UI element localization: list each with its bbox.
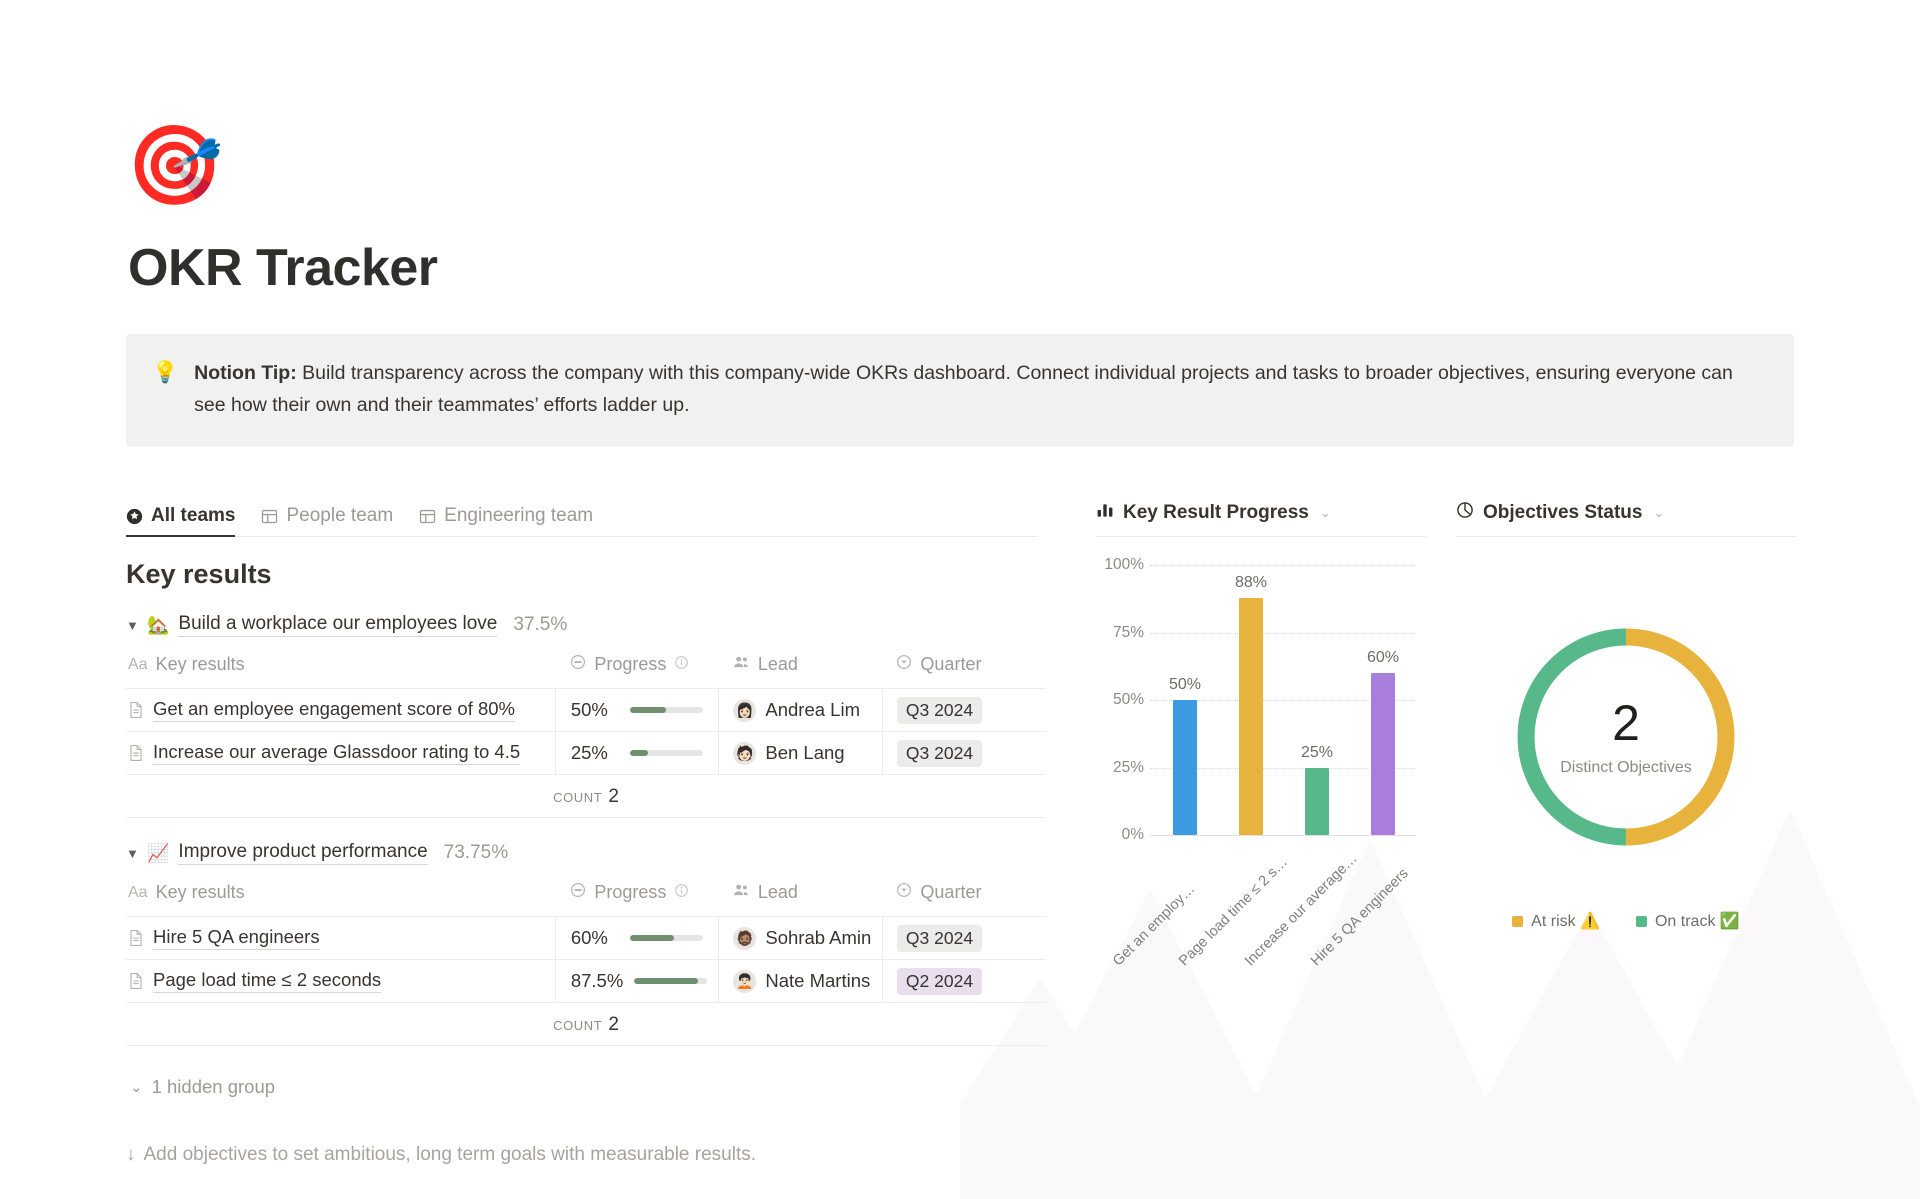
avatar: 🧑🏻 xyxy=(733,742,756,765)
quarter-tag: Q3 2024 xyxy=(897,697,982,724)
chart-header[interactable]: Key Result Progress ⌄ xyxy=(1096,499,1426,537)
text-type-icon: Aa xyxy=(128,656,148,674)
callout-text: Notion Tip: Build transparency across th… xyxy=(194,358,1766,421)
people-icon xyxy=(733,654,750,675)
lead-name: Ben Lang xyxy=(765,742,844,764)
group-count[interactable]: COUNT2 xyxy=(126,1003,1046,1046)
bar-slot[interactable]: 50% xyxy=(1152,565,1218,835)
info-icon[interactable] xyxy=(674,654,689,675)
column-label: Key results xyxy=(156,654,245,675)
count-label: COUNT xyxy=(553,1018,602,1033)
tab-engineering-team[interactable]: Engineering team xyxy=(419,505,593,536)
key-results-column: All teams People team Engineering team xyxy=(126,499,1046,1098)
info-icon[interactable] xyxy=(674,882,689,903)
tab-label: All teams xyxy=(151,505,235,527)
footer-hint: ↓ Add objectives to set ambitious, long … xyxy=(126,1144,1794,1166)
column-header-name[interactable]: AaKey results xyxy=(126,654,555,689)
donut-center: 2 Distinct Objectives xyxy=(1511,622,1741,852)
cell-quarter[interactable]: Q3 2024 xyxy=(882,689,1046,732)
cell-progress[interactable]: 60% xyxy=(555,917,719,960)
objective-group: ▼ 🏡 Build a workplace our employees love… xyxy=(126,612,1046,818)
house-emoji-icon: 🏡 xyxy=(147,615,169,636)
cell-name[interactable]: Page load time ≤ 2 seconds xyxy=(126,960,555,1003)
donut-label: Distinct Objectives xyxy=(1560,759,1692,777)
donut-chart: 2 Distinct Objectives xyxy=(1456,587,1796,887)
row-title[interactable]: Increase our average Glassdoor rating to… xyxy=(153,741,520,765)
avatar: 👩🏻 xyxy=(733,699,756,722)
notion-tip-callout: 💡 Notion Tip: Build transparency across … xyxy=(126,334,1794,447)
chevron-down-icon[interactable]: ⌄ xyxy=(1320,505,1331,521)
bar[interactable] xyxy=(1305,768,1329,836)
donut-legend: At risk ⚠️ On track ✅ xyxy=(1456,911,1796,931)
page-icon xyxy=(128,972,144,990)
progress-bar xyxy=(630,707,703,713)
legend-label: At risk ⚠️ xyxy=(1531,911,1600,931)
callout-body: Build transparency across the company wi… xyxy=(194,362,1733,416)
table-header-row: AaKey results Progress xyxy=(126,882,1046,917)
table-icon xyxy=(261,508,278,525)
quarter-tag: Q2 2024 xyxy=(897,968,982,995)
target-emoji-icon: 🎯 xyxy=(126,126,216,216)
bar-slot[interactable]: 25% xyxy=(1284,565,1350,835)
cell-progress[interactable]: 50% xyxy=(555,689,719,732)
chart-header[interactable]: Objectives Status ⌄ xyxy=(1456,499,1796,537)
lightbulb-icon: 💡 xyxy=(152,358,178,421)
bar-value-label: 60% xyxy=(1367,649,1399,667)
bar-value-label: 50% xyxy=(1169,676,1201,694)
tab-people-team[interactable]: People team xyxy=(261,505,393,536)
chevron-down-icon[interactable]: ⌄ xyxy=(1653,505,1664,521)
column-label: Quarter xyxy=(920,654,981,675)
legend-item-at-risk[interactable]: At risk ⚠️ xyxy=(1512,911,1600,931)
y-tick-label: 0% xyxy=(1096,826,1144,844)
key-result-progress-chart-block: Key Result Progress ⌄ 100% 75% 50% 25% 0… xyxy=(1096,499,1426,1098)
page-icon xyxy=(128,701,144,719)
column-header-quarter[interactable]: Quarter xyxy=(882,654,1046,689)
y-tick-label: 50% xyxy=(1096,691,1144,709)
tab-label: Engineering team xyxy=(444,505,593,527)
row-title[interactable]: Get an employee engagement score of 80% xyxy=(153,698,515,722)
bar-slot[interactable]: 88% xyxy=(1218,565,1284,835)
progress-value: 87.5% xyxy=(571,970,623,992)
chevron-down-icon[interactable]: ▼ xyxy=(126,618,138,633)
y-tick-label: 75% xyxy=(1096,624,1144,642)
column-header-progress[interactable]: Progress xyxy=(555,654,719,689)
cell-lead[interactable]: 👩🏻 Andrea Lim xyxy=(719,689,883,732)
group-percent: 37.5% xyxy=(513,614,567,636)
main-area: All teams People team Engineering team xyxy=(0,499,1920,1098)
bar-slot[interactable]: 60% xyxy=(1350,565,1416,835)
arrow-down-icon: ↓ xyxy=(126,1144,136,1166)
column-label: Lead xyxy=(758,882,798,903)
pie-chart-icon xyxy=(1456,501,1474,525)
target-icon xyxy=(126,508,143,525)
column-header-lead[interactable]: Lead xyxy=(719,654,883,689)
select-icon xyxy=(896,882,912,903)
table-row[interactable]: Increase our average Glassdoor rating to… xyxy=(126,732,1046,775)
lead-name: Andrea Lim xyxy=(765,699,860,721)
key-results-table: AaKey results Progress xyxy=(126,882,1046,1046)
chart-title: Objectives Status xyxy=(1483,502,1642,524)
select-icon xyxy=(896,654,912,675)
column-label: Quarter xyxy=(920,882,981,903)
people-icon xyxy=(733,882,750,903)
quarter-tag: Q3 2024 xyxy=(897,740,982,767)
column-label: Key results xyxy=(156,882,245,903)
progress-value: 50% xyxy=(571,699,619,721)
bar-chart: 100% 75% 50% 25% 0% 50% xyxy=(1096,565,1416,875)
column-label: Lead xyxy=(758,654,798,675)
table-row[interactable]: Page load time ≤ 2 seconds 87.5% xyxy=(126,960,1046,1003)
tab-label: People team xyxy=(286,505,393,527)
count-value: 2 xyxy=(608,1014,619,1035)
cell-progress[interactable]: 87.5% xyxy=(555,960,719,1003)
cell-quarter[interactable]: Q3 2024 xyxy=(882,732,1046,775)
donut-number: 2 xyxy=(1612,698,1640,748)
group-count[interactable]: COUNT2 xyxy=(126,775,1046,818)
group-count-row: COUNT2 xyxy=(126,775,1046,818)
bar-value-label: 88% xyxy=(1235,574,1267,592)
donut-rings: 2 Distinct Objectives xyxy=(1511,622,1741,852)
column-label: Progress xyxy=(594,654,666,675)
bar[interactable] xyxy=(1239,598,1263,836)
chart-increasing-emoji-icon: 📈 xyxy=(147,843,169,864)
bar[interactable] xyxy=(1371,673,1395,835)
page-title: OKR Tracker xyxy=(128,238,1920,298)
legend-swatch xyxy=(1636,916,1647,927)
cell-lead[interactable]: 🧑🏻 Ben Lang xyxy=(719,732,883,775)
page-icon xyxy=(128,744,144,762)
group-name[interactable]: Improve product performance xyxy=(178,841,427,865)
page-header: 🎯 OKR Tracker xyxy=(0,0,1920,298)
column-label: Progress xyxy=(594,882,666,903)
group-name[interactable]: Build a workplace our employees love xyxy=(178,613,497,637)
count-value: 2 xyxy=(608,786,619,807)
table-row[interactable]: Hire 5 QA engineers 60% xyxy=(126,917,1046,960)
callout-label: Notion Tip: xyxy=(194,362,297,384)
key-results-table: AaKey results Progress xyxy=(126,654,1046,818)
legend-label: On track ✅ xyxy=(1655,911,1740,931)
y-tick-label: 25% xyxy=(1096,759,1144,777)
chevron-down-icon[interactable]: ▼ xyxy=(126,846,138,861)
progress-value: 25% xyxy=(571,742,619,764)
column-header-progress[interactable]: Progress xyxy=(555,882,719,917)
cell-name[interactable]: Increase our average Glassdoor rating to… xyxy=(126,732,555,775)
column-header-quarter[interactable]: Quarter xyxy=(882,882,1046,917)
progress-bar xyxy=(630,935,703,941)
table-header-row: AaKey results Progress xyxy=(126,654,1046,689)
x-axis-labels: Get an employ… Page load time ≤ 2 s… Inc… xyxy=(1152,877,1416,977)
legend-item-on-track[interactable]: On track ✅ xyxy=(1636,911,1740,931)
progress-icon xyxy=(570,882,586,903)
team-tabs: All teams People team Engineering team xyxy=(126,499,1038,537)
progress-value: 60% xyxy=(571,927,619,949)
bar[interactable] xyxy=(1173,700,1197,835)
chevron-down-icon: ⌄ xyxy=(130,1078,143,1096)
avatar: 🧑🏻‍🦱 xyxy=(733,970,756,993)
lead-name: Sohrab Amin xyxy=(765,927,871,949)
lead-name: Nate Martins xyxy=(765,970,870,992)
progress-bar xyxy=(630,750,703,756)
quarter-tag: Q3 2024 xyxy=(897,925,982,952)
legend-swatch xyxy=(1512,916,1523,927)
progress-bar xyxy=(634,978,707,984)
row-title[interactable]: Hire 5 QA engineers xyxy=(153,926,320,950)
bar-value-label: 25% xyxy=(1301,744,1333,762)
cell-quarter[interactable]: Q2 2024 xyxy=(882,960,1046,1003)
progress-icon xyxy=(570,654,586,675)
cell-name[interactable]: Get an employee engagement score of 80% xyxy=(126,689,555,732)
bar-chart-icon xyxy=(1096,501,1114,525)
x-tick: Hire 5 QA engineers xyxy=(1350,877,1416,977)
group-count-row: COUNT2 xyxy=(126,1003,1046,1046)
count-label: COUNT xyxy=(553,790,602,805)
y-tick-label: 100% xyxy=(1096,556,1144,574)
hidden-group-label: 1 hidden group xyxy=(152,1076,275,1098)
table-row[interactable]: Get an employee engagement score of 80% … xyxy=(126,689,1046,732)
x-axis-line xyxy=(1150,835,1416,836)
cell-name[interactable]: Hire 5 QA engineers xyxy=(126,917,555,960)
text-type-icon: Aa xyxy=(128,884,148,902)
chart-title: Key Result Progress xyxy=(1123,502,1309,524)
section-title: Key results xyxy=(126,559,1046,590)
table-icon xyxy=(419,508,436,525)
objectives-status-chart-block: Objectives Status ⌄ 2 Distinct Objective… xyxy=(1456,499,1796,1098)
avatar: 🧔🏽 xyxy=(733,927,756,950)
group-header[interactable]: ▼ 📈 Improve product performance 73.75% xyxy=(126,840,1046,866)
cell-lead[interactable]: 🧑🏻‍🦱 Nate Martins xyxy=(719,960,883,1003)
objective-group: ▼ 📈 Improve product performance 73.75% A… xyxy=(126,840,1046,1046)
tab-all-teams[interactable]: All teams xyxy=(126,505,235,536)
cell-progress[interactable]: 25% xyxy=(555,732,719,775)
column-header-lead[interactable]: Lead xyxy=(719,882,883,917)
okr-tracker-page: 🎯 OKR Tracker 💡 Notion Tip: Build transp… xyxy=(0,0,1920,1199)
column-header-name[interactable]: AaKey results xyxy=(126,882,555,917)
bars-container: 50% 88% 25% 60% xyxy=(1152,565,1416,835)
row-title[interactable]: Page load time ≤ 2 seconds xyxy=(153,969,381,993)
hidden-group-toggle[interactable]: ⌄ 1 hidden group xyxy=(130,1076,1046,1098)
cell-quarter[interactable]: Q3 2024 xyxy=(882,917,1046,960)
cell-lead[interactable]: 🧔🏽 Sohrab Amin xyxy=(719,917,883,960)
footer-text: Add objectives to set ambitious, long te… xyxy=(144,1144,757,1166)
page-icon xyxy=(128,929,144,947)
group-percent: 73.75% xyxy=(444,842,508,864)
group-header[interactable]: ▼ 🏡 Build a workplace our employees love… xyxy=(126,612,1046,638)
